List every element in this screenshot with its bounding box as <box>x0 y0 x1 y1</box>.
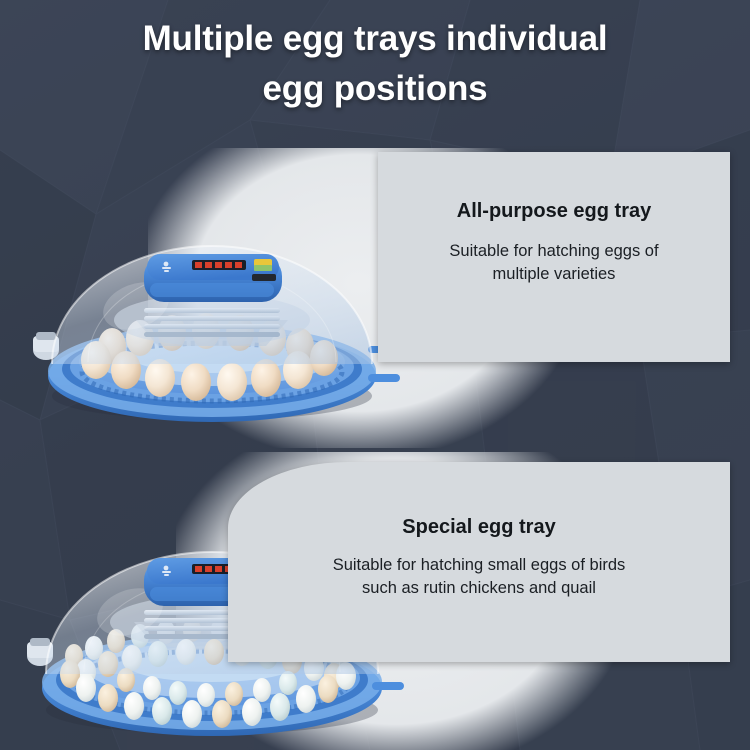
info-card-all-purpose: All-purpose egg tray Suitable for hatchi… <box>378 152 730 362</box>
card-desc-line-1: Suitable for hatching eggs of <box>404 240 704 263</box>
card-title-all-purpose: All-purpose egg tray <box>404 198 704 224</box>
card-desc-all-purpose: Suitable for hatching eggs of multiple v… <box>404 240 704 287</box>
card-title-special: Special egg tray <box>256 514 702 540</box>
card-desc-line-2: multiple varieties <box>404 263 704 286</box>
info-card-special: Special egg tray Suitable for hatching s… <box>228 462 730 662</box>
card-desc-line-1: Suitable for hatching small eggs of bird… <box>256 554 702 577</box>
promo-banner: Multiple egg trays individual egg positi… <box>0 0 750 750</box>
card-desc-line-2: such as rutin chickens and quail <box>256 577 702 600</box>
page-title: Multiple egg trays individual egg positi… <box>0 14 750 113</box>
headline-line-1: Multiple egg trays individual <box>24 14 726 64</box>
card-desc-special: Suitable for hatching small eggs of bird… <box>256 554 702 601</box>
headline-line-2: egg positions <box>24 64 726 114</box>
